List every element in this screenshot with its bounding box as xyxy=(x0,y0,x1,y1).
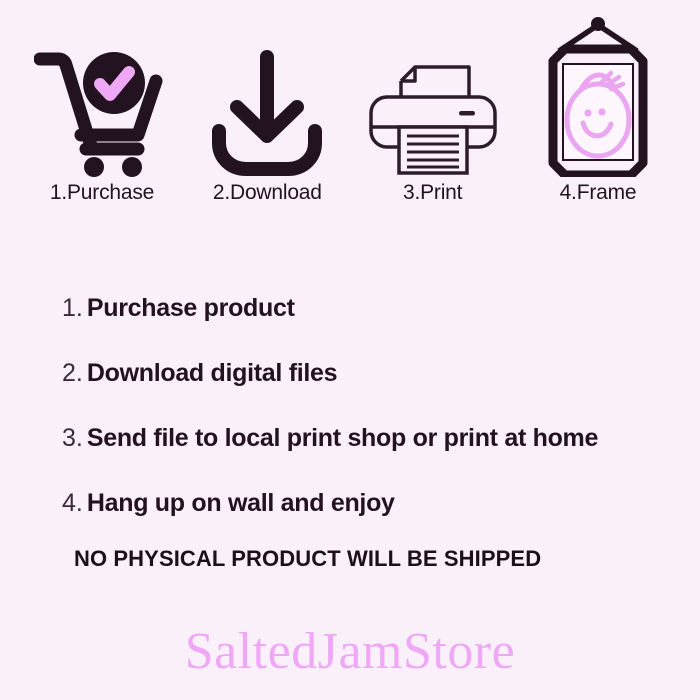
shopping-cart-check-icon xyxy=(34,45,170,177)
instruction-text: Send file to local print shop or print a… xyxy=(87,424,598,453)
instruction-list: 1. Purchase product 2. Download digital … xyxy=(62,276,682,536)
disclaimer-text: NO PHYSICAL PRODUCT WILL BE SHIPPED xyxy=(74,546,541,572)
step-frame-label: 4.Frame xyxy=(560,181,637,205)
brand-wordmark: SaltedJamStore xyxy=(0,622,700,681)
step-purchase-label: 1.Purchase xyxy=(50,181,154,205)
step-download: 2.Download xyxy=(187,17,347,205)
instruction-text: Purchase product xyxy=(87,294,295,323)
step-download-label: 2.Download xyxy=(213,181,322,205)
instruction-number: 2. xyxy=(62,359,83,388)
list-item: 1. Purchase product xyxy=(62,276,682,341)
step-frame-art xyxy=(535,17,661,177)
instruction-text: Download digital files xyxy=(87,359,337,388)
step-purchase-art xyxy=(34,17,170,177)
list-item: 4. Hang up on wall and enjoy xyxy=(62,471,682,536)
download-arrow-tray-icon xyxy=(205,47,329,177)
step-print-art xyxy=(363,17,503,177)
instruction-number: 1. xyxy=(62,294,83,323)
list-item: 3. Send file to local print shop or prin… xyxy=(62,406,682,471)
printer-icon xyxy=(363,41,503,177)
instruction-text: Hang up on wall and enjoy xyxy=(87,489,395,518)
instruction-number: 3. xyxy=(62,424,83,453)
step-print-label: 3.Print xyxy=(403,181,462,205)
step-purchase: 1.Purchase xyxy=(22,17,182,205)
instruction-number: 4. xyxy=(62,489,83,518)
hanging-picture-frame-icon xyxy=(535,17,661,177)
step-print: 3.Print xyxy=(353,17,513,205)
list-item: 2. Download digital files xyxy=(62,341,682,406)
process-steps-strip: 1.Purchase 2.Download xyxy=(0,0,700,205)
step-download-art xyxy=(205,17,329,177)
step-frame: 4.Frame xyxy=(518,17,678,205)
